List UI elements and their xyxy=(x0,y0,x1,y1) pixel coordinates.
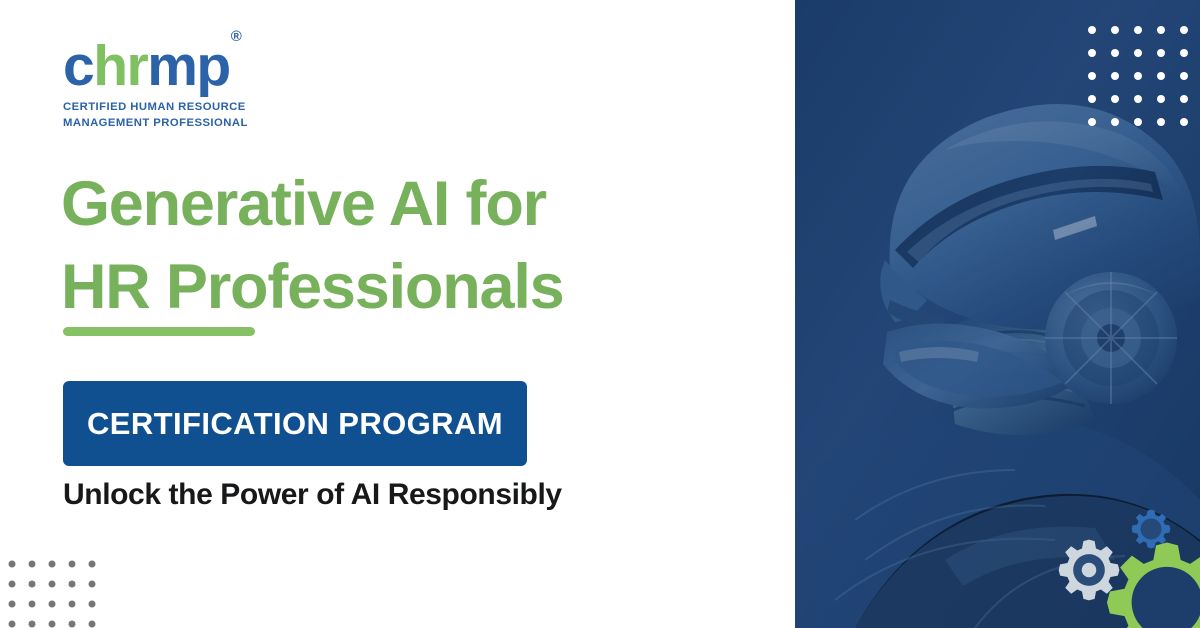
headline-line-2: HR Professionals xyxy=(61,246,563,329)
logo-letter-h: h xyxy=(93,34,126,98)
logo-letter-p: p xyxy=(196,34,229,98)
logo-letter-r: r xyxy=(127,34,148,98)
logo-tagline-line2: MANAGEMENT PROFESSIONAL xyxy=(63,117,248,129)
certification-program-button[interactable]: CERTIFICATION PROGRAM xyxy=(63,381,527,466)
logo-tagline: CERTIFIED HUMAN RESOURCE MANAGEMENT PROF… xyxy=(63,99,248,131)
content-panel: chrmp® CERTIFIED HUMAN RESOURCE MANAGEME… xyxy=(0,0,795,628)
brand-logo[interactable]: chrmp® CERTIFIED HUMAN RESOURCE MANAGEME… xyxy=(63,38,248,131)
gear-icon-green xyxy=(1106,540,1200,628)
logo-wordmark: chrmp® xyxy=(63,38,248,95)
subtitle: Unlock the Power of AI Responsibly xyxy=(63,478,562,512)
certification-program-label: CERTIFICATION PROGRAM xyxy=(87,406,503,442)
page-title: Generative AI for HR Professionals xyxy=(61,163,563,329)
accent-divider xyxy=(63,327,255,336)
registered-trademark-icon: ® xyxy=(231,28,242,45)
logo-tagline-line1: CERTIFIED HUMAN RESOURCE xyxy=(63,101,246,113)
promo-banner: chrmp® CERTIFIED HUMAN RESOURCE MANAGEME… xyxy=(0,0,1200,628)
hero-image-panel xyxy=(795,0,1200,628)
logo-letter-c: c xyxy=(63,34,93,98)
headline-line-1: Generative AI for xyxy=(61,163,563,246)
dot-grid-top-right xyxy=(1084,22,1200,146)
dot-grid-bottom-left xyxy=(6,558,116,628)
logo-letter-m: m xyxy=(147,34,196,98)
